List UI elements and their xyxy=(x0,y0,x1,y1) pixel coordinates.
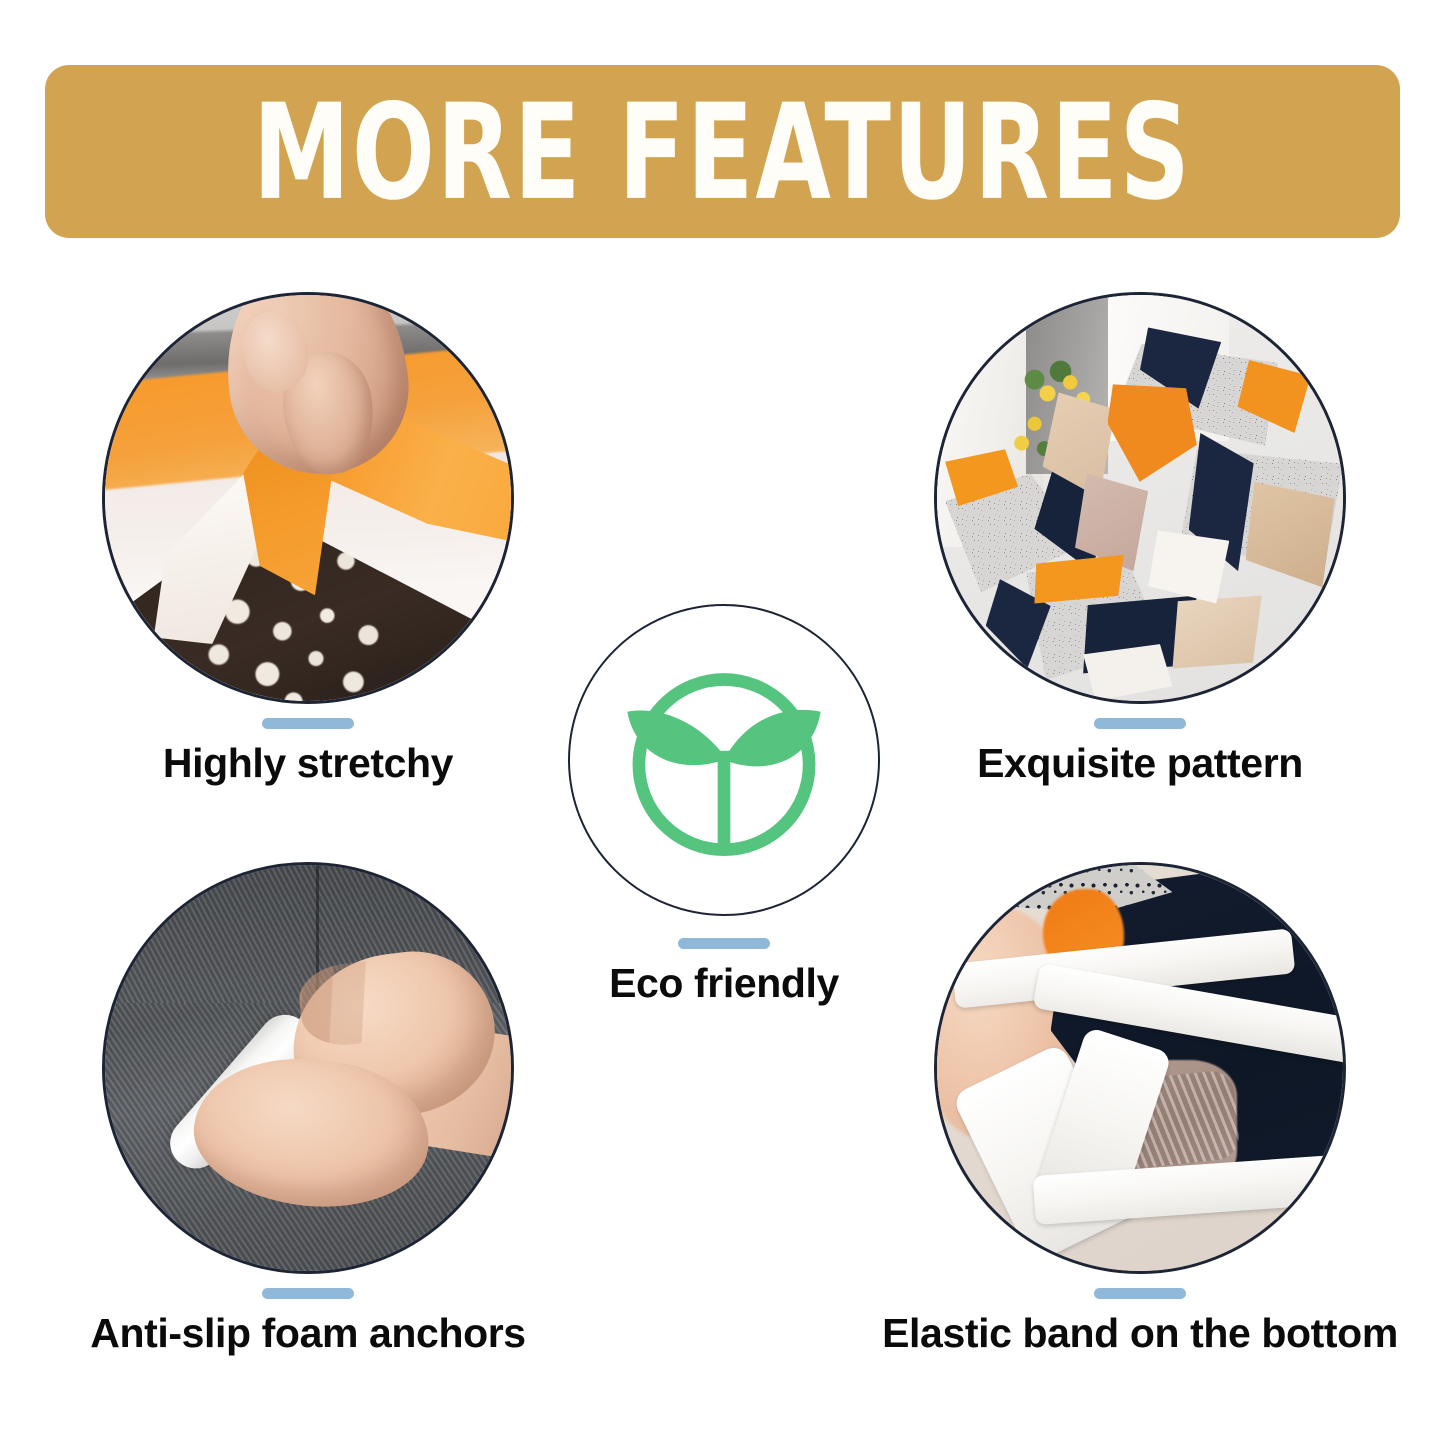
caption-accent-dash xyxy=(1094,1288,1186,1299)
eco-badge-circle xyxy=(568,604,880,916)
eco-leaf-sprout-icon xyxy=(609,645,839,875)
feature-label-exquisite-pattern: Exquisite pattern xyxy=(977,742,1303,785)
feature-elastic-band-on-the-bottom: Elastic band on the bottom xyxy=(925,862,1355,1355)
feature-label-anti-slip-foam-anchors: Anti-slip foam anchors xyxy=(90,1312,525,1355)
caption-accent-dash xyxy=(262,718,354,729)
page-header-banner: MORE FEATURES xyxy=(45,65,1400,238)
caption-accent-dash xyxy=(262,1288,354,1299)
feature-highly-stretchy: Highly stretchy xyxy=(93,292,523,785)
feature-image-highly-stretchy xyxy=(102,292,514,704)
infographic-page: MORE FEATURES Highly stretchy xyxy=(0,0,1445,1445)
feature-image-exquisite-pattern xyxy=(934,292,1346,704)
caption-group: Eco friendly xyxy=(609,938,839,1005)
caption-accent-dash xyxy=(678,938,770,949)
caption-group: Anti-slip foam anchors xyxy=(90,1288,525,1355)
feature-anti-slip-foam-anchors: Anti-slip foam anchors xyxy=(93,862,523,1355)
feature-label-highly-stretchy: Highly stretchy xyxy=(163,742,453,785)
caption-group: Exquisite pattern xyxy=(977,718,1303,785)
eco-badge-label: Eco friendly xyxy=(609,962,839,1005)
feature-label-elastic-band-on-the-bottom: Elastic band on the bottom xyxy=(882,1312,1398,1355)
caption-accent-dash xyxy=(1094,718,1186,729)
beige-panel-d xyxy=(1172,595,1261,668)
caption-group: Highly stretchy xyxy=(163,718,453,785)
feature-image-elastic-band-on-the-bottom xyxy=(934,862,1346,1274)
page-title: MORE FEATURES xyxy=(253,85,1192,217)
feature-exquisite-pattern: Exquisite pattern xyxy=(925,292,1355,785)
caption-group: Elastic band on the bottom xyxy=(882,1288,1398,1355)
feature-image-anti-slip-foam-anchors xyxy=(102,862,514,1274)
eco-friendly-badge: Eco friendly xyxy=(568,604,880,1005)
